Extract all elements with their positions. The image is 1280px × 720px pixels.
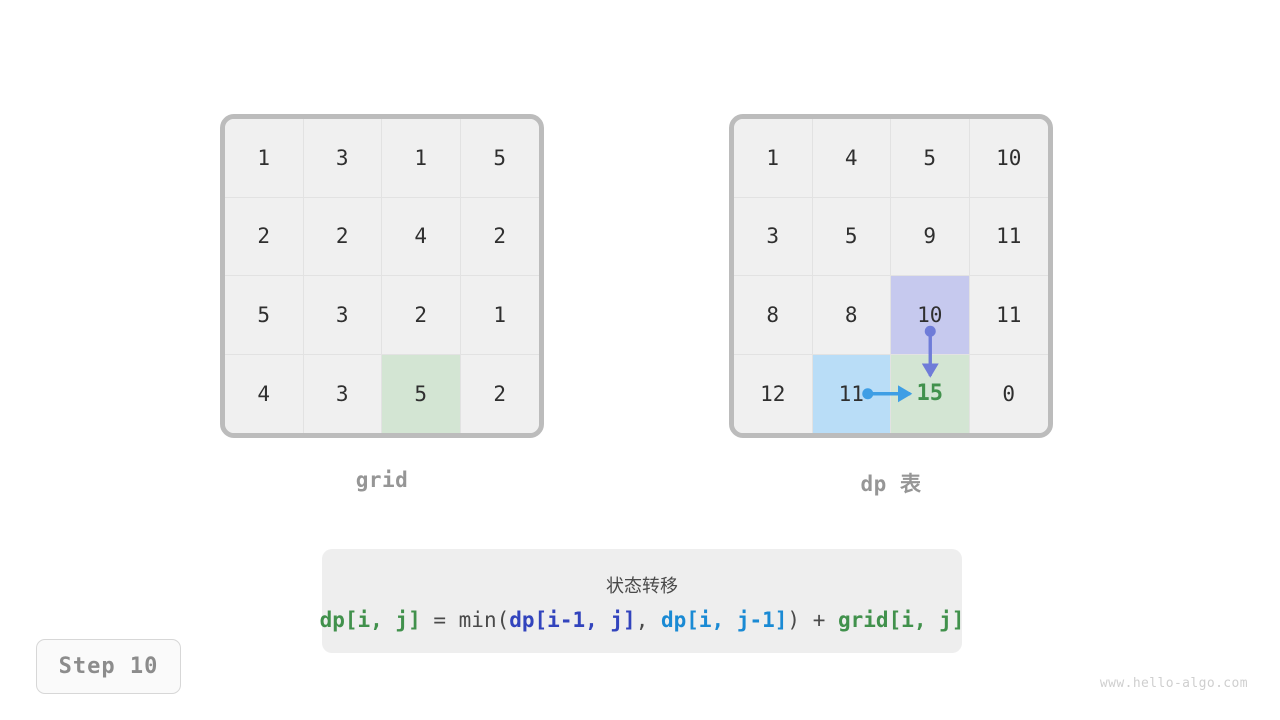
- dp-cell-0-0: 1: [734, 119, 813, 198]
- grid-cell-value: 5: [493, 146, 506, 170]
- grid-cell-3-1: 3: [304, 355, 383, 434]
- grid-cell-2-2: 2: [382, 276, 461, 355]
- state-transition-title: 状态转移: [606, 572, 678, 598]
- dp-cell-value: 15: [917, 381, 944, 406]
- grid-cell-0-2: 1: [382, 119, 461, 198]
- dp-cell-value: 5: [845, 224, 858, 248]
- dp-cell-3-3: 0: [970, 355, 1049, 434]
- dp-cell-2-1: 8: [813, 276, 892, 355]
- grid-cell-3-0: 4: [225, 355, 304, 434]
- dp-cell-0-3: 10: [970, 119, 1049, 198]
- dp-cell-2-2: 10: [891, 276, 970, 355]
- dp-cell-value: 5: [923, 146, 936, 170]
- dp-caption: dp 表: [729, 468, 1053, 498]
- dp-cell-value: 11: [839, 382, 864, 406]
- dp-cell-3-1: 11: [813, 355, 892, 434]
- grid-cell-value: 4: [257, 382, 270, 406]
- dp-cell-value: 11: [996, 303, 1021, 327]
- grid-cell-0-3: 5: [461, 119, 540, 198]
- dp-cell-3-0: 12: [734, 355, 813, 434]
- grid-cell-3-2: 5: [382, 355, 461, 434]
- site-watermark: www.hello-algo.com: [1100, 676, 1248, 691]
- grid-cell-value: 3: [336, 382, 349, 406]
- state-transition-equation: dp[i, j] = min(dp[i-1, j], dp[i, j-1]) +…: [320, 610, 965, 631]
- dp-matrix: 14510359118810111211150: [729, 114, 1053, 438]
- grid-cell-value: 2: [493, 382, 506, 406]
- formula-token-5: ) +: [787, 608, 838, 632]
- grid-cell-2-0: 5: [225, 276, 304, 355]
- grid-cell-value: 1: [257, 146, 270, 170]
- step-badge: Step 10: [36, 639, 181, 694]
- dp-cell-value: 0: [1002, 382, 1015, 406]
- dp-cell-value: 11: [996, 224, 1021, 248]
- grid-cell-0-0: 1: [225, 119, 304, 198]
- grid-table-block: 1315224253214352: [220, 114, 544, 438]
- dp-cell-2-0: 8: [734, 276, 813, 355]
- grid-cell-value: 2: [493, 224, 506, 248]
- grid-cell-2-1: 3: [304, 276, 383, 355]
- formula-token-1: = min(: [421, 608, 510, 632]
- grid-caption: grid: [220, 468, 544, 492]
- dp-cell-3-2: 15: [891, 355, 970, 434]
- formula-token-4: dp[i, j-1]: [661, 608, 787, 632]
- grid-cell-value: 3: [336, 303, 349, 327]
- formula-token-6: grid[i, j]: [838, 608, 964, 632]
- dp-table-block: 14510359118810111211150: [729, 114, 1053, 438]
- formula-token-2: dp[i-1, j]: [509, 608, 635, 632]
- dp-cell-value: 8: [766, 303, 779, 327]
- dp-cell-value: 9: [923, 224, 936, 248]
- dp-cell-0-1: 4: [813, 119, 892, 198]
- grid-cell-value: 1: [493, 303, 506, 327]
- dp-cell-value: 12: [760, 382, 785, 406]
- grid-cell-value: 4: [414, 224, 427, 248]
- grid-cell-1-1: 2: [304, 198, 383, 277]
- dp-cell-0-2: 5: [891, 119, 970, 198]
- grid-matrix: 1315224253214352: [220, 114, 544, 438]
- grid-cell-value: 2: [336, 224, 349, 248]
- grid-cell-value: 3: [336, 146, 349, 170]
- grid-cell-value: 2: [257, 224, 270, 248]
- illustration-canvas: 1315224253214352 grid 145103591188101112…: [0, 0, 1280, 720]
- formula-token-0: dp[i, j]: [320, 608, 421, 632]
- dp-cell-value: 10: [917, 303, 942, 327]
- grid-cell-value: 5: [257, 303, 270, 327]
- grid-cell-value: 2: [414, 303, 427, 327]
- dp-cell-2-3: 11: [970, 276, 1049, 355]
- grid-cell-0-1: 3: [304, 119, 383, 198]
- dp-cell-1-3: 11: [970, 198, 1049, 277]
- grid-cell-1-0: 2: [225, 198, 304, 277]
- grid-cell-2-3: 1: [461, 276, 540, 355]
- grid-cell-1-2: 4: [382, 198, 461, 277]
- state-transition-panel: 状态转移 dp[i, j] = min(dp[i-1, j], dp[i, j-…: [322, 549, 962, 653]
- formula-token-3: ,: [636, 608, 661, 632]
- dp-cell-value: 8: [845, 303, 858, 327]
- grid-cell-value: 5: [414, 382, 427, 406]
- dp-cell-value: 10: [996, 146, 1021, 170]
- grid-cell-value: 1: [414, 146, 427, 170]
- grid-cell-1-3: 2: [461, 198, 540, 277]
- dp-cell-1-0: 3: [734, 198, 813, 277]
- dp-cell-1-2: 9: [891, 198, 970, 277]
- dp-cell-value: 3: [766, 224, 779, 248]
- dp-cell-value: 1: [766, 146, 779, 170]
- dp-cell-1-1: 5: [813, 198, 892, 277]
- dp-cell-value: 4: [845, 146, 858, 170]
- grid-cell-3-3: 2: [461, 355, 540, 434]
